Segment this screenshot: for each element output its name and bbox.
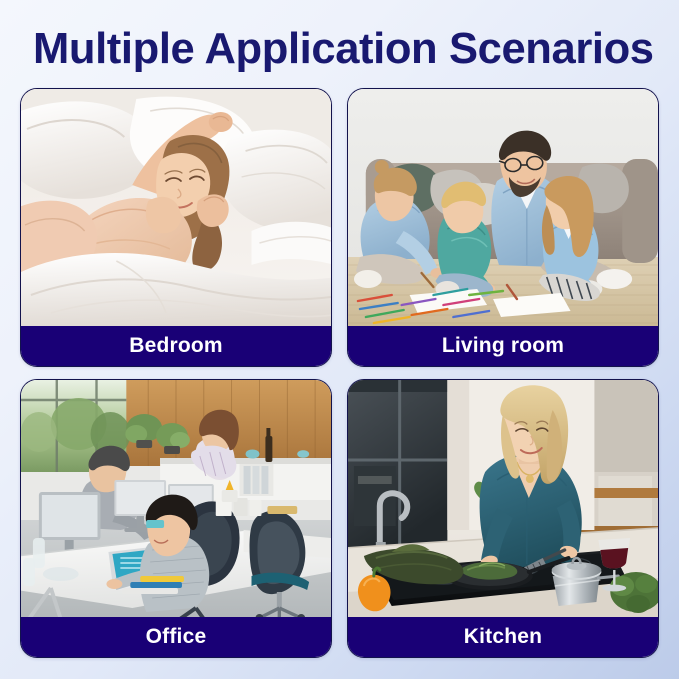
page-title: Multiple Application Scenarios bbox=[33, 23, 647, 75]
scenario-card-kitchen[interactable]: Kitchen bbox=[347, 379, 659, 658]
card-label-living-room: Living room bbox=[348, 326, 658, 366]
living-room-photo bbox=[348, 89, 658, 328]
poster-root: Multiple Application Scenarios bbox=[0, 0, 679, 679]
scenario-card-living-room[interactable]: Living room bbox=[347, 88, 659, 367]
bedroom-photo bbox=[21, 89, 331, 328]
office-photo bbox=[21, 380, 331, 619]
scenario-card-bedroom[interactable]: Bedroom bbox=[20, 88, 332, 367]
card-label-bedroom: Bedroom bbox=[21, 326, 331, 366]
card-label-office: Office bbox=[21, 617, 331, 657]
scenario-grid: Bedroom bbox=[20, 88, 659, 658]
card-label-kitchen: Kitchen bbox=[348, 617, 658, 657]
scenario-card-office[interactable]: Office bbox=[20, 379, 332, 658]
kitchen-photo bbox=[348, 380, 658, 619]
